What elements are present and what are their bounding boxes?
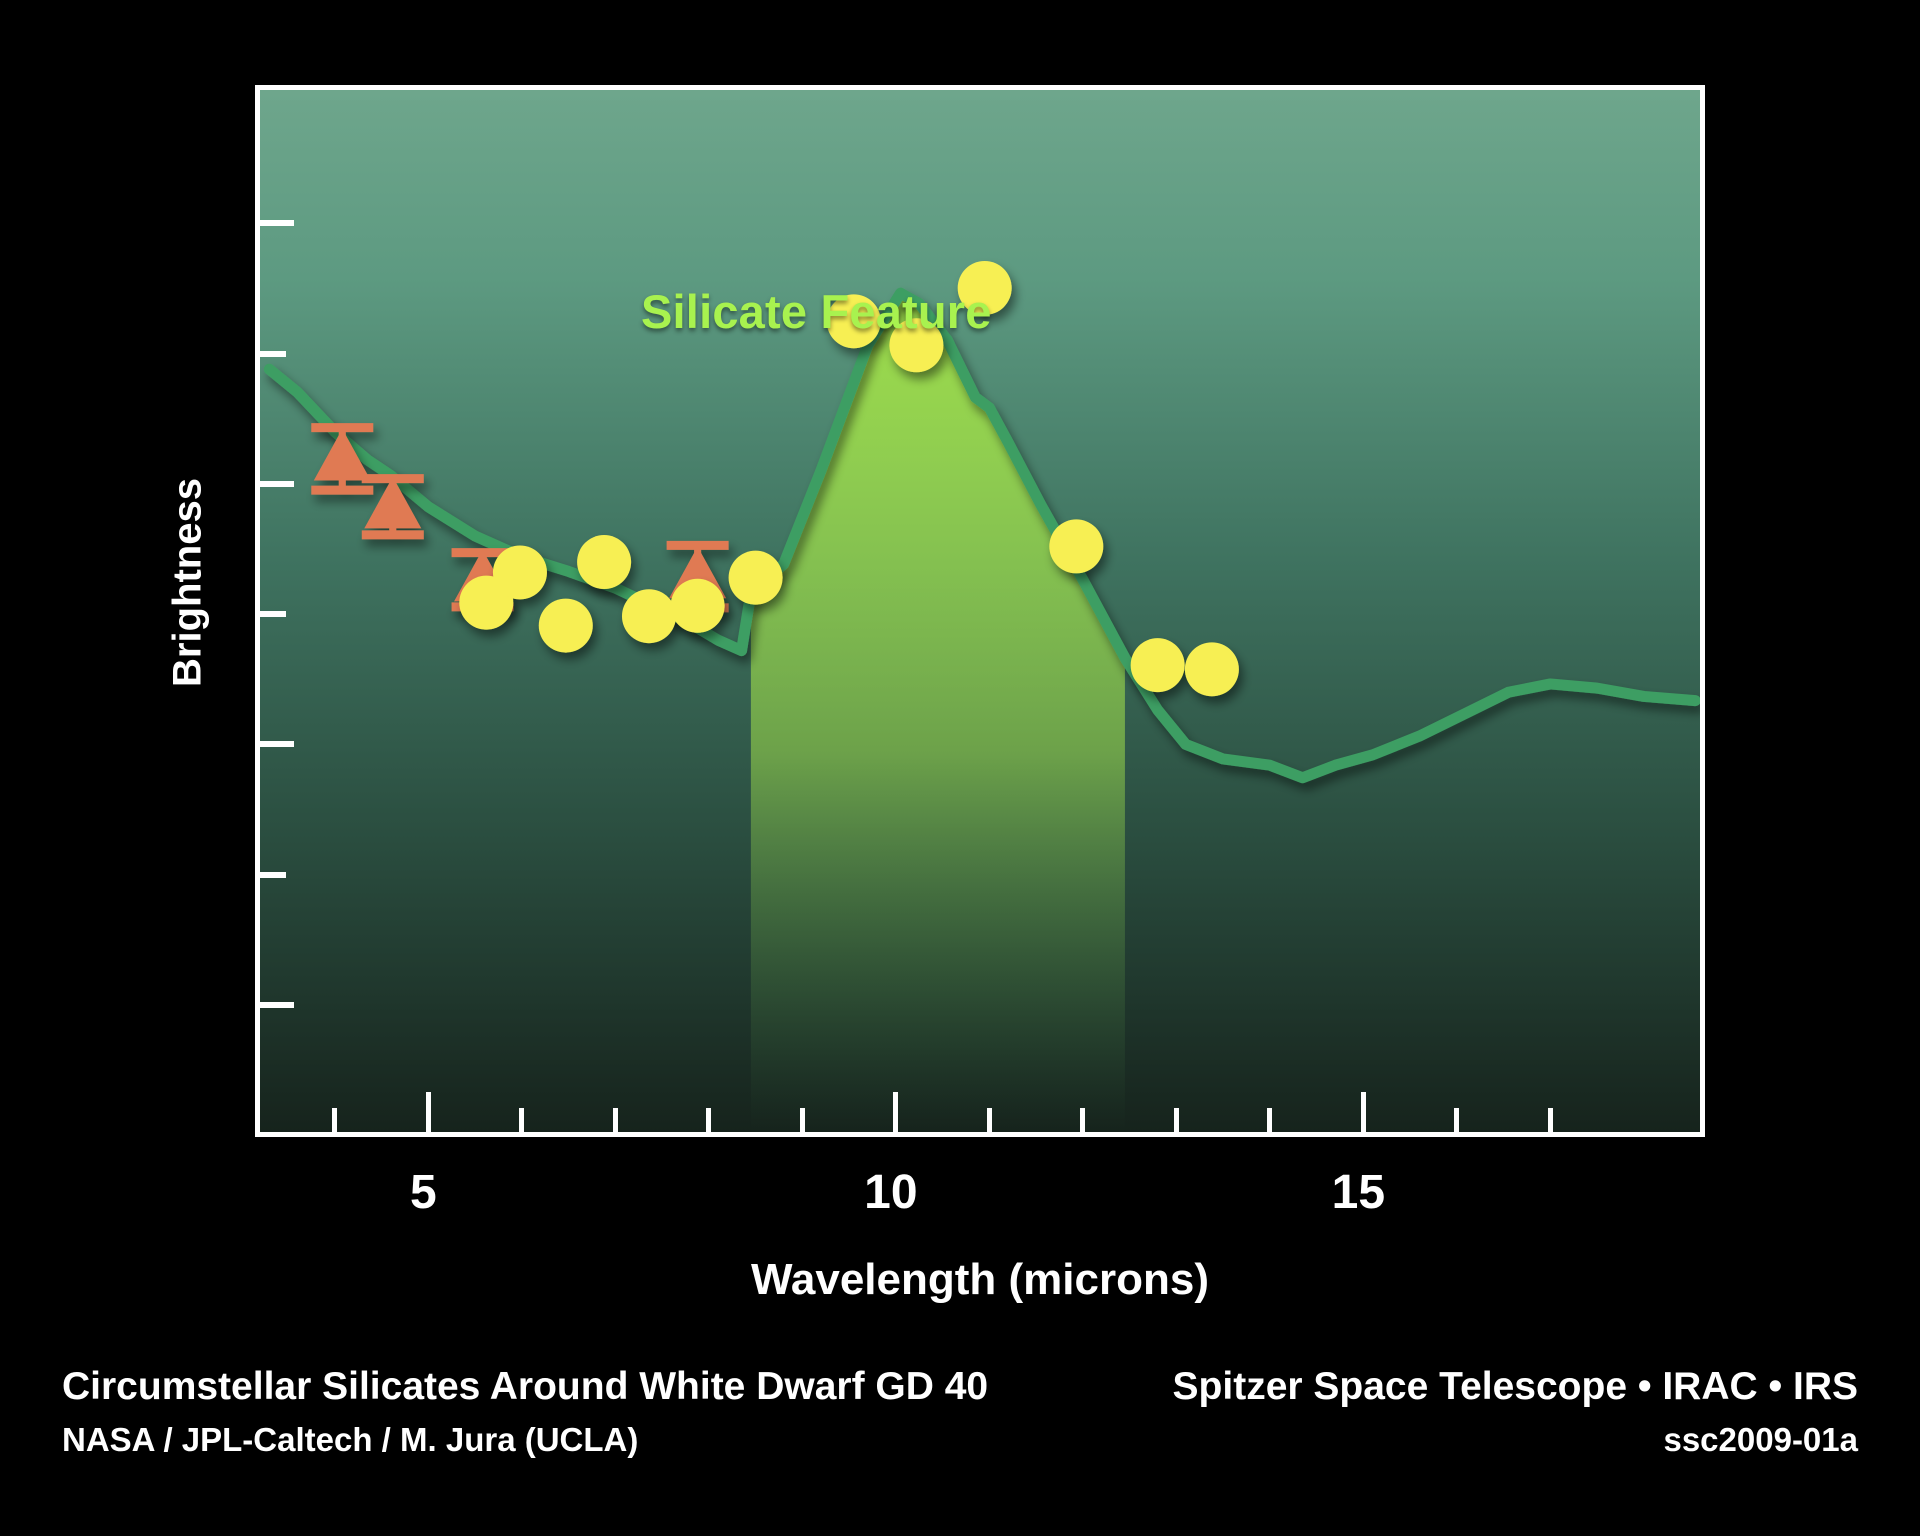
- x-tick-minor-9: [800, 1108, 805, 1132]
- x-tick-minor-11: [987, 1108, 992, 1132]
- x-tick-minor-13: [1174, 1108, 1179, 1132]
- circle-marker: [671, 579, 725, 633]
- x-tick-label-10: 10: [864, 1165, 917, 1220]
- x-tick-minor-17: [1548, 1108, 1553, 1132]
- x-tick-minor-6: [519, 1108, 524, 1132]
- plot-area: [255, 85, 1705, 1137]
- y-tick-4: [260, 611, 286, 617]
- y-tick-1: [260, 220, 294, 226]
- x-tick-minor-14: [1267, 1108, 1272, 1132]
- silicate-feature-annotation: Silicate Feature: [641, 284, 992, 339]
- x-tick-major-15: [1361, 1092, 1366, 1132]
- figure-root: Silicate Feature Brightness Wavelength (…: [0, 0, 1920, 1536]
- y-tick-6: [260, 872, 286, 878]
- circle-marker: [493, 545, 547, 599]
- circle-marker: [1049, 519, 1103, 573]
- y-tick-2: [260, 351, 286, 357]
- circle-marker: [1131, 638, 1185, 692]
- x-tick-minor-12: [1080, 1108, 1085, 1132]
- caption-title: Circumstellar Silicates Around White Dwa…: [62, 1362, 988, 1412]
- y-tick-7: [260, 1002, 294, 1008]
- x-tick-minor-4: [332, 1108, 337, 1132]
- chart-svg: [260, 90, 1700, 1132]
- caption-block: Circumstellar Silicates Around White Dwa…: [0, 1362, 1920, 1482]
- x-tick-major-5: [426, 1092, 431, 1132]
- x-tick-minor-8: [706, 1108, 711, 1132]
- y-tick-5: [260, 741, 294, 747]
- circle-marker: [1185, 642, 1239, 696]
- triangle-marker: [364, 477, 421, 529]
- caption-release-id: ssc2009-01a: [1663, 1418, 1858, 1463]
- circle-marker: [729, 551, 783, 605]
- caption-credit: NASA / JPL-Caltech / M. Jura (UCLA): [62, 1418, 638, 1463]
- y-tick-3: [260, 481, 294, 487]
- y-axis-label: Brightness: [166, 373, 211, 793]
- caption-instruments: Spitzer Space Telescope • IRAC • IRS: [1173, 1362, 1858, 1412]
- silicate-peak-fill: [751, 293, 1125, 1132]
- x-tick-label-5: 5: [410, 1165, 437, 1220]
- x-tick-minor-16: [1454, 1108, 1459, 1132]
- x-tick-major-10: [893, 1092, 898, 1132]
- circle-marker: [539, 599, 593, 653]
- x-tick-minor-7: [613, 1108, 618, 1132]
- circle-marker: [577, 535, 631, 589]
- x-axis-label: Wavelength (microns): [255, 1255, 1705, 1305]
- x-tick-label-15: 15: [1332, 1165, 1385, 1220]
- circle-marker: [622, 589, 676, 643]
